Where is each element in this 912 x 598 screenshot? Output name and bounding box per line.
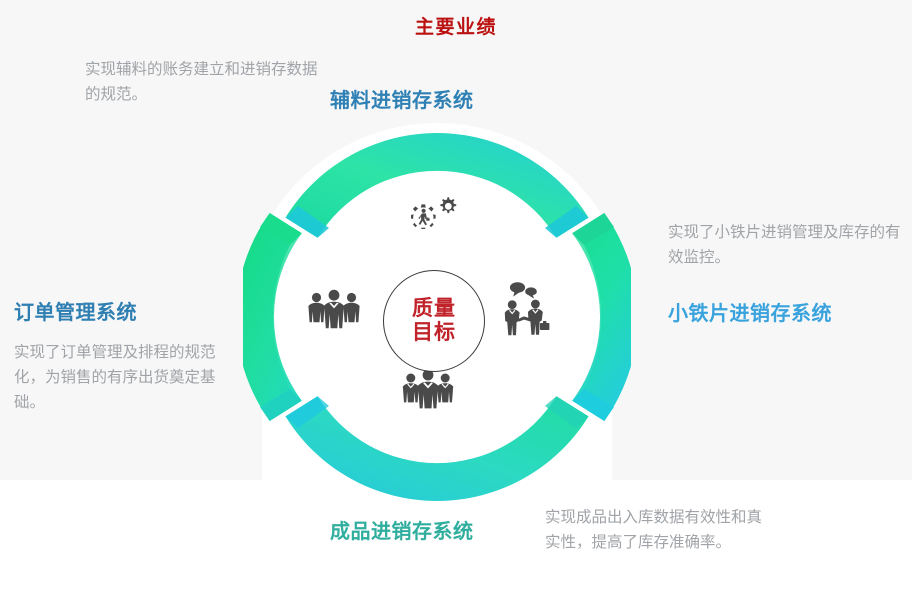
center-hub: 质量 目标: [383, 270, 485, 372]
three-people-icon: [399, 366, 457, 416]
team-group-icon: [305, 286, 363, 336]
hub-line-1: 质量: [412, 297, 456, 321]
arc-segment-right: [572, 213, 631, 421]
gear-person-icon: [399, 195, 461, 253]
hub-line-2: 目标: [412, 321, 456, 345]
segment-label-top[interactable]: 辅料进销存系统: [330, 84, 474, 113]
segment-caption-right: 实现了小铁片进销管理及库存的有效监控。: [668, 220, 912, 270]
segment-label-right[interactable]: 小铁片进销存系统: [668, 297, 832, 326]
segment-caption-left: 实现了订单管理及排程的规范化，为销售的有序出货奠定基础。: [14, 340, 224, 415]
segment-caption-top: 实现辅料的账务建立和进销存数据的规范。: [85, 57, 325, 107]
arc-segment-left: [243, 213, 302, 421]
segment-caption-bottom: 实现成品出入库数据有效性和真实性，提高了库存准确率。: [545, 505, 775, 555]
segment-label-left[interactable]: 订单管理系统: [14, 296, 137, 325]
segment-label-bottom[interactable]: 成品进销存系统: [330, 515, 474, 544]
handshake-people-icon: [497, 280, 553, 338]
page-title: 主要业绩: [0, 12, 912, 39]
